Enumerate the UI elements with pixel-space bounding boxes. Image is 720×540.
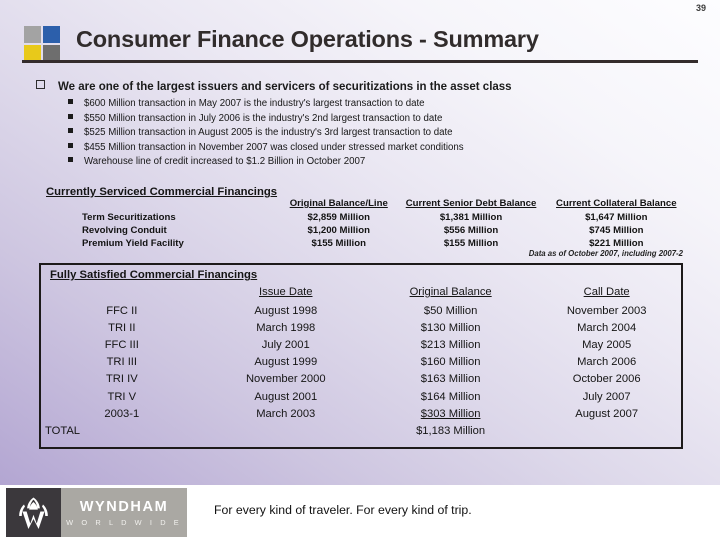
column-header-name [41,285,203,302]
total-original-balance: $1,183 Million [369,422,532,439]
square-filled-bullet-icon [68,99,73,104]
list-item-label: $600 Million transaction in May 2007 is … [84,98,425,109]
cell-original-balance: $50 Million [369,302,532,319]
cell-collateral: $1,647 Million [547,211,686,224]
page-title: Consumer Finance Operations - Summary [76,26,539,53]
cell-original-balance: $164 Million [369,388,532,405]
table-row: FFC II August 1998 $50 Million November … [41,302,681,319]
column-header-senior-debt: Current Senior Debt Balance [395,197,546,211]
list-item-label: Warehouse line of credit increased to $1… [84,156,365,167]
list-item: Warehouse line of credit increased to $1… [68,155,688,170]
cell-call-date: November 2003 [532,302,681,319]
cell-call-date: July 2007 [532,388,681,405]
cell-issue-date: March 1998 [203,319,369,336]
fully-satisfied-heading: Fully Satisfied Commercial Financings [50,269,257,281]
table-row: Term Securitizations $2,859 Million $1,3… [46,211,686,224]
table-row: FFC III July 2001 $213 Million May 2005 [41,336,681,353]
cell-call-date: October 2006 [532,371,681,388]
slide: 39 Consumer Finance Operations - Summary… [0,0,720,540]
column-header-collateral: Current Collateral Balance [547,197,686,211]
currently-serviced-table: Original Balance/Line Current Senior Deb… [46,197,686,250]
cell-original-balance: $2,859 Million [282,211,395,224]
cell-name: TRI III [41,354,203,371]
column-header-issue-date: Issue Date [203,285,369,302]
column-header-name [46,197,282,211]
column-header-original-balance: Original Balance [369,285,532,302]
footer-tagline: For every kind of traveler. For every ki… [214,503,472,517]
wyndham-wordmark-line2: W O R L D W I D E [61,518,187,527]
cell-issue-date: August 2001 [203,388,369,405]
table-row: TRI IV November 2000 $163 Million Octobe… [41,371,681,388]
cell-original-balance: $155 Million [282,237,395,250]
square-outline-bullet-icon [36,80,45,89]
cell-call-date: May 2005 [532,336,681,353]
cell-senior-debt: $556 Million [395,224,546,237]
cell-original-balance: $303 Million [369,405,532,422]
list-item-label: $550 Million transaction in July 2006 is… [84,113,442,124]
table-row: TRI II March 1998 $130 Million March 200… [41,319,681,336]
cell-issue-date: November 2000 [203,371,369,388]
cell-name: FFC III [41,336,203,353]
table-header-row: Issue Date Original Balance Call Date [41,285,681,302]
list-item: $455 Million transaction in November 200… [68,141,688,156]
table-row: TRI III August 1999 $160 Million March 2… [41,354,681,371]
cell-name: Term Securitizations [46,211,282,224]
total-call-date-blank [532,422,681,439]
table-row: Revolving Conduit $1,200 Million $556 Mi… [46,224,686,237]
cell-issue-date: July 2001 [203,336,369,353]
slide-footer: WYNDHAM W O R L D W I D E For every kind… [0,485,720,540]
square-filled-bullet-icon [68,143,73,148]
cell-name: TRI V [41,388,203,405]
fully-satisfied-table: Issue Date Original Balance Call Date FF… [41,285,681,440]
wyndham-wordmark-line1: WYNDHAM [61,499,187,515]
cell-original-balance: $130 Million [369,319,532,336]
headline-bullet-label: We are one of the largest issuers and se… [58,81,512,93]
square-filled-bullet-icon [68,114,73,119]
list-item-label: $455 Million transaction in November 200… [84,142,464,153]
logo-square-top-left [24,26,41,43]
column-header-original-balance: Original Balance/Line [282,197,395,211]
table-total-row: TOTAL $1,183 Million [41,422,681,439]
logo-square-top-right [43,26,60,43]
cell-name: Premium Yield Facility [46,237,282,250]
cell-name: FFC II [41,302,203,319]
cell-original-balance: $213 Million [369,336,532,353]
list-item: $550 Million transaction in July 2006 is… [68,112,688,127]
column-header-call-date: Call Date [532,285,681,302]
title-divider [22,60,698,63]
cell-call-date: March 2006 [532,354,681,371]
total-label: TOTAL [41,422,203,439]
cell-name: 2003-1 [41,405,203,422]
square-filled-bullet-icon [68,128,73,133]
total-issue-date-blank [203,422,369,439]
table-row: 2003-1 March 2003 $303 Million August 20… [41,405,681,422]
cell-name: TRI IV [41,371,203,388]
cell-collateral: $745 Million [547,224,686,237]
cell-name: Revolving Conduit [46,224,282,237]
cell-original-balance: $1,200 Million [282,224,395,237]
table-header-row: Original Balance/Line Current Senior Deb… [46,197,686,211]
four-squares-logo-icon [24,26,62,64]
wyndham-w-mark-icon [6,488,61,537]
list-item: $525 Million transaction in August 2005 … [68,126,688,141]
data-as-of-note: Data as of October 2007, including 2007-… [529,249,683,258]
square-filled-bullet-icon [68,157,73,162]
table-row: TRI V August 2001 $164 Million July 2007 [41,388,681,405]
cell-issue-date: August 1998 [203,302,369,319]
headline-bullet: We are one of the largest issuers and se… [36,80,676,93]
list-item: $600 Million transaction in May 2007 is … [68,97,688,112]
cell-original-balance: $163 Million [369,371,532,388]
cell-senior-debt: $155 Million [395,237,546,250]
cell-issue-date: March 2003 [203,405,369,422]
cell-call-date: March 2004 [532,319,681,336]
sub-bullet-list: $600 Million transaction in May 2007 is … [68,97,688,170]
cell-original-balance: $160 Million [369,354,532,371]
cell-senior-debt: $1,381 Million [395,211,546,224]
wyndham-wordmark: WYNDHAM W O R L D W I D E [61,488,187,537]
cell-issue-date: August 1999 [203,354,369,371]
cell-name: TRI II [41,319,203,336]
list-item-label: $525 Million transaction in August 2005 … [84,127,453,138]
page-number: 39 [696,3,706,13]
cell-call-date: August 2007 [532,405,681,422]
